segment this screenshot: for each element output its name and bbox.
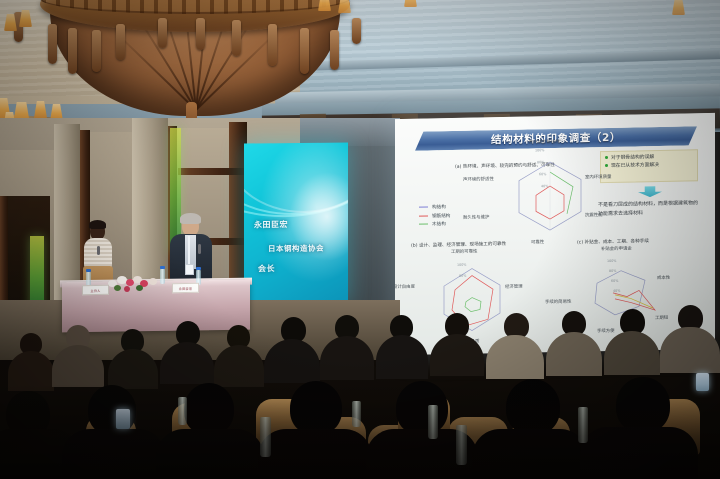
flower-petal [149, 278, 157, 285]
audience-person [486, 313, 544, 375]
wall-chandelier-topleft [4, 10, 44, 42]
name-card-moderator: 主持人 [82, 285, 109, 295]
radar-a-axis-label-bl: 耐久性与维护 [463, 215, 489, 222]
axis-tick: 100% [607, 259, 616, 263]
audience-person [160, 321, 214, 381]
audience-person [52, 325, 104, 383]
radar-b-axis-label-top: 工期的可靠性 [451, 249, 477, 256]
ceiling-lamp-right-a [404, 0, 438, 16]
ceiling-lamp-right-b [672, 0, 706, 22]
audience-person [430, 313, 484, 373]
bottle-cap [196, 267, 201, 270]
axis-tick: 40% [541, 184, 548, 188]
speaker-badge [185, 264, 194, 275]
radar-b-axis-label-left: 设计自由度 [395, 285, 415, 292]
axis-tick: 40% [613, 289, 620, 293]
radar-a-axis-label-right: 室内环境质量 [585, 175, 611, 182]
section-caption-b: (b) 设计、监理、经济管理、现场施工的可靠性 [411, 241, 506, 249]
flower-leaf [136, 285, 143, 291]
speaker-name: 永田臣宏 [254, 219, 288, 230]
speaker-lanyard [188, 236, 190, 266]
section-caption-c: (c) 补贴金、成本、工期、各种手续 [577, 238, 649, 245]
name-card-speaker: 永田臣宏 [172, 283, 199, 293]
axis-tick: 80% [609, 269, 616, 273]
audience-person [376, 315, 428, 375]
flower-arrangement [104, 272, 162, 292]
radar-chart-a: 100% 80% 60% 40% 热环境的舒适性 声环境的舒适性 耐久性与维护 … [507, 155, 593, 237]
axis-tick: 80% [537, 160, 544, 164]
moderator-microphone [97, 246, 100, 255]
audience-person [320, 315, 374, 377]
radar-b-axis-label-right: 经济管理 [505, 285, 523, 292]
chandelier-tassel [300, 28, 309, 74]
legend-item-1: 钢筋结构 [432, 214, 450, 219]
flower-petal [124, 286, 130, 292]
chandelier-tassel [158, 18, 167, 48]
audience-person [214, 325, 264, 383]
stage-green-light [30, 236, 44, 310]
audience-person [108, 329, 158, 385]
speaker-microphone [198, 244, 201, 254]
radar-a-axis-label-left: 声环境的舒适性 [463, 177, 494, 184]
chandelier-tassel [48, 24, 57, 64]
door-frame [0, 196, 8, 310]
ceiling-lamp-center [318, 0, 378, 24]
audience-person [264, 317, 320, 379]
chandelier-tassel [268, 24, 277, 66]
left-projection-screen: 永田臣宏 日本钢构造协会 会长 [244, 142, 348, 304]
axis-tick: 80% [459, 274, 466, 278]
legend-item-0: 构结构 [432, 205, 446, 210]
audience-person [546, 311, 602, 373]
audience-person [604, 309, 660, 371]
bullet-dot-icon [605, 164, 608, 167]
bottle-cap [86, 269, 91, 272]
down-arrow-icon [638, 186, 662, 197]
radar-c-axis-label-top: 补贴金的申请金 [601, 247, 632, 254]
chandelier-tassel [92, 30, 101, 72]
moderator-hair [89, 220, 106, 229]
wall-wood-rail [178, 168, 248, 175]
chandelier-tassel [68, 28, 77, 74]
bullet-dot-icon [605, 156, 608, 159]
speaker-hair [180, 213, 201, 224]
slide-legend: 构结构 钢筋结构 木结构 [419, 204, 450, 231]
legend-item-2: 木结构 [432, 223, 446, 228]
bottle-cap [160, 266, 165, 269]
radar-a-axis-label-br: 抗震性能 [585, 213, 603, 220]
axis-tick: 60% [611, 279, 618, 283]
flower-leaf [114, 285, 121, 291]
audience-person [660, 305, 720, 369]
axis-tick: 100% [535, 148, 544, 152]
chandelier-tassel [196, 18, 205, 50]
axis-tick: 60% [539, 172, 546, 176]
radar-a-axis-label-bottom: 可靠性 [531, 240, 544, 247]
wall-dark-panel [348, 140, 398, 310]
axis-tick: 100% [457, 263, 466, 267]
audience-person [8, 333, 54, 387]
speaker-organization: 日本钢构造协会 [268, 243, 324, 255]
callout-box: 对于钢骨结构的误解 现在已从技术方面解决 [600, 149, 698, 183]
callout-bullet-1: 现在已从技术方面解决 [605, 161, 693, 171]
photo-bottom-shadow [0, 384, 720, 479]
radar-c-axis-label-right: 成本性 [657, 276, 670, 283]
slide-title-bar: 结构材料的印象调查（2） [415, 126, 697, 150]
callout-conclusion: 不是看刀层成的结构材料，而是根据建筑物的功能需求去选择材料 [598, 199, 702, 218]
conference-hall-photo: 永田臣宏 日本钢构造协会 会长 结构材料的印象调查（2） (a) 热环境、声环境… [0, 0, 720, 479]
chandelier-tassel [116, 24, 125, 60]
chandelier-tassel [232, 20, 241, 56]
radar-a-axis-label-top: 热环境的舒适性 [529, 140, 560, 147]
chandelier-tassel [330, 30, 339, 70]
speaker-title: 会长 [258, 263, 275, 274]
